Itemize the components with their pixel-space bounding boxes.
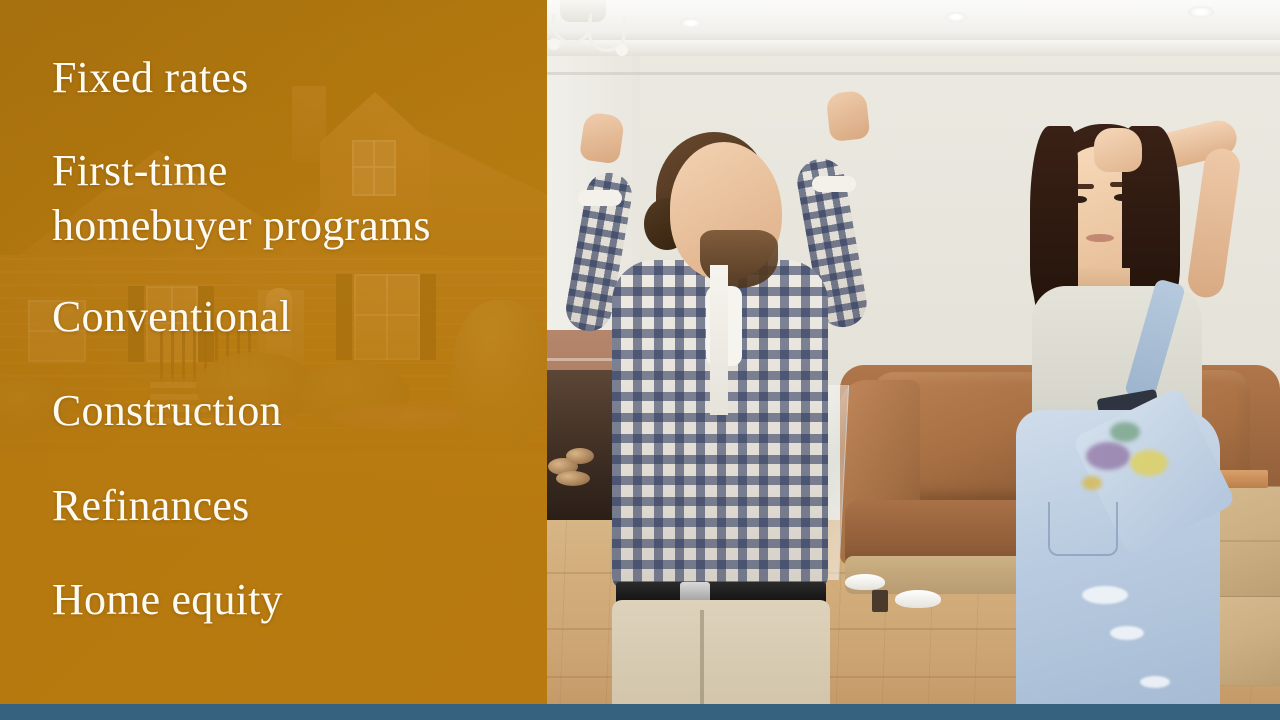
recessed-light-icon	[680, 18, 702, 28]
recessed-light-icon	[1188, 6, 1214, 18]
list-item-conventional: Conventional	[52, 289, 291, 344]
paint-splatter	[1130, 450, 1168, 476]
woman-lips	[1086, 234, 1114, 242]
denim-rip	[1082, 586, 1128, 604]
woman-dancing	[990, 110, 1250, 704]
denim-rip	[1110, 626, 1144, 640]
paint-splatter	[1082, 476, 1102, 490]
man-pants-fly	[700, 610, 704, 704]
denim-rip	[1140, 676, 1170, 688]
man-right-cuff	[812, 176, 856, 192]
man-shirt-placket	[710, 265, 728, 415]
man-left-fist	[579, 111, 625, 164]
list-item-fixed-rates: Fixed rates	[52, 50, 248, 105]
list-item-first-time-homebuyer-programs: First-time homebuyer programs	[52, 143, 431, 253]
ceiling-soffit	[520, 40, 1280, 56]
man-right-fist	[826, 90, 871, 142]
list-item-home-equity: Home equity	[52, 572, 283, 627]
paint-splatter	[1086, 442, 1130, 470]
list-item-refinances: Refinances	[52, 478, 249, 533]
man-left-cuff	[578, 190, 622, 206]
paint-splatter	[1110, 422, 1140, 442]
slide-canvas: Fixed rates First-time homebuyer program…	[0, 0, 1280, 720]
product-list: Fixed rates First-time homebuyer program…	[0, 0, 547, 704]
overall-pocket	[1048, 502, 1118, 556]
woman-hand-on-head	[1094, 128, 1142, 172]
man-dancing	[560, 90, 920, 704]
list-item-construction: Construction	[52, 383, 282, 438]
recessed-light-icon	[945, 12, 967, 22]
man-khaki-pants	[612, 600, 830, 704]
pendant-knob	[548, 38, 560, 50]
bottom-accent-bar	[0, 704, 1280, 720]
woman-forearm	[1186, 146, 1243, 300]
text-panel: Fixed rates First-time homebuyer program…	[0, 0, 547, 704]
ceiling-trim-line	[520, 72, 1280, 75]
pendant-knob	[616, 44, 628, 56]
